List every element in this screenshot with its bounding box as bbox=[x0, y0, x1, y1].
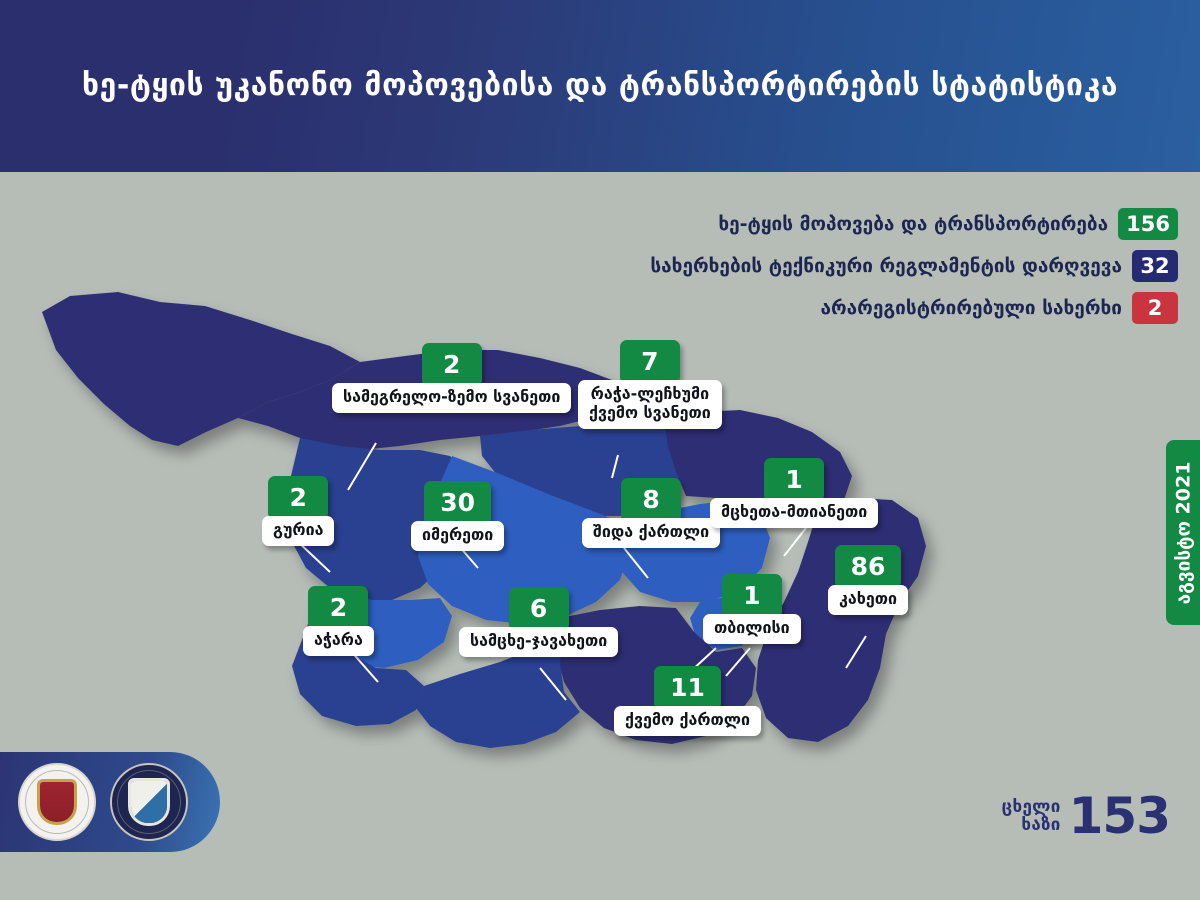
date-tab-label: აგვისტო 2021 bbox=[1172, 461, 1194, 604]
pin-value: 6 bbox=[509, 587, 569, 631]
pin-value: 1 bbox=[764, 458, 824, 502]
hotline: ცხელი ხაზი 153 bbox=[1002, 795, 1170, 838]
map-pin-guria[interactable]: 2 გურია bbox=[262, 476, 334, 546]
pin-label-line2: ქვემო სვანეთი bbox=[589, 403, 711, 422]
pin-label: მცხეთა-მთიანეთი bbox=[710, 498, 878, 528]
pin-value: 8 bbox=[621, 478, 681, 522]
map-pin-racha-lechkhumi-kvemo-svaneti[interactable]: 7 რაჭა-ლეჩხუმი ქვემო სვანეთი bbox=[578, 340, 722, 429]
legend-value-badge: 2 bbox=[1132, 292, 1178, 324]
date-tab: აგვისტო 2021 bbox=[1166, 440, 1200, 625]
map-pin-kvemo-kartli[interactable]: 11 ქვემო ქართლი bbox=[614, 666, 761, 736]
page-title: ხე-ტყის უკანონო მოპოვებისა და ტრანსპორტი… bbox=[0, 68, 1200, 103]
hotline-word-hot: ცხელი bbox=[1002, 799, 1061, 816]
seal-ring bbox=[25, 770, 89, 834]
map-pin-imereti[interactable]: 30 იმერეთი bbox=[411, 481, 504, 551]
hotline-label: ცხელი ხაზი bbox=[1002, 799, 1061, 834]
map-pin-mtskheta-mtianeti[interactable]: 1 მცხეთა-მთიანეთი bbox=[710, 458, 878, 528]
pin-value: 2 bbox=[308, 586, 368, 630]
environmental-supervision-emblem-icon bbox=[110, 763, 188, 841]
pin-label: რაჭა-ლეჩხუმი ქვემო სვანეთი bbox=[578, 380, 722, 429]
hotline-number: 153 bbox=[1069, 795, 1170, 838]
pin-label: სამეგრელო-ზემო სვანეთი bbox=[332, 383, 571, 413]
header-banner: ხე-ტყის უკანონო მოპოვებისა და ტრანსპორტი… bbox=[0, 0, 1200, 172]
legend-label: ხე-ტყის მოპოვება და ტრანსპორტირება bbox=[718, 213, 1108, 235]
map-pin-adjara[interactable]: 2 აჭარა bbox=[303, 586, 374, 656]
pin-label: კახეთი bbox=[828, 585, 908, 615]
legend-value-badge: 32 bbox=[1132, 250, 1178, 282]
pin-label: იმერეთი bbox=[411, 521, 504, 551]
pin-value: 30 bbox=[424, 481, 491, 525]
legend-value-badge: 156 bbox=[1118, 208, 1178, 240]
ministry-emblem-icon bbox=[18, 763, 96, 841]
map-pin-tbilisi[interactable]: 1 თბილისი bbox=[703, 574, 801, 644]
pin-value: 2 bbox=[268, 476, 328, 520]
pin-label: სამცხე-ჯავახეთი bbox=[459, 627, 618, 657]
pin-value: 86 bbox=[835, 545, 902, 589]
map-pin-samegrelo-zemo-svaneti[interactable]: 2 სამეგრელო-ზემო სვანეთი bbox=[332, 343, 571, 413]
hotline-word-line: ხაზი bbox=[1021, 817, 1060, 834]
map-pin-shida-kartli[interactable]: 8 შიდა ქართლი bbox=[582, 478, 720, 548]
legend-item-timber-extraction: ხე-ტყის მოპოვება და ტრანსპორტირება 156 bbox=[558, 208, 1178, 240]
pin-label: ქვემო ქართლი bbox=[614, 706, 761, 736]
pin-label: გურია bbox=[262, 516, 334, 546]
map-pin-kakheti[interactable]: 86 კახეთი bbox=[828, 545, 908, 615]
pin-label: შიდა ქართლი bbox=[582, 518, 720, 548]
pin-value: 11 bbox=[654, 666, 721, 710]
pin-label: აჭარა bbox=[303, 626, 374, 656]
logo-bar bbox=[0, 752, 220, 852]
pin-value: 1 bbox=[722, 574, 782, 618]
pin-label: თბილისი bbox=[703, 614, 801, 644]
seal-ring bbox=[117, 770, 181, 834]
infographic-canvas: ხე-ტყის უკანონო მოპოვებისა და ტრანსპორტი… bbox=[0, 0, 1200, 900]
pin-value: 2 bbox=[422, 343, 482, 387]
map-pin-samtskhe-javakheti[interactable]: 6 სამცხე-ჯავახეთი bbox=[459, 587, 618, 657]
pin-label-line1: რაჭა-ლეჩხუმი bbox=[591, 384, 709, 403]
pin-value: 7 bbox=[620, 340, 680, 384]
